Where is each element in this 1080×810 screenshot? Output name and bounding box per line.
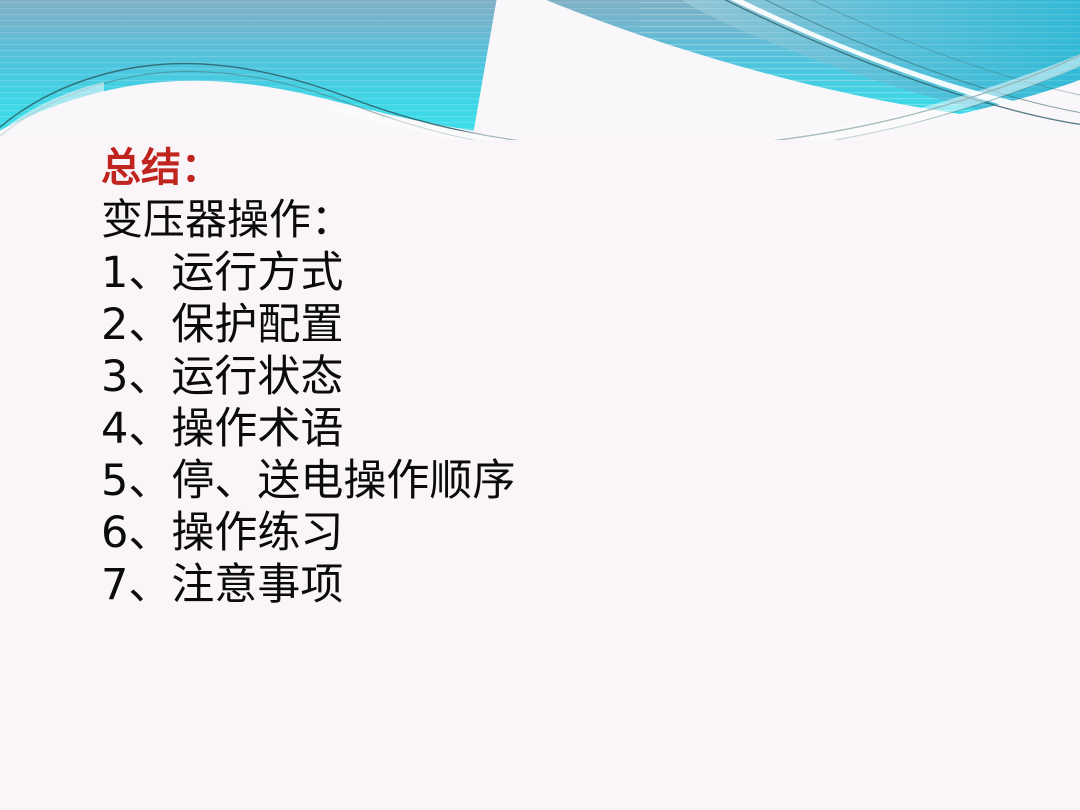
list-item-5: 5、停、送电操作顺序 — [101, 455, 981, 507]
wave-accent-line-secondary — [0, 56, 1080, 140]
transformer-operation-subheading: 变压器操作： — [101, 193, 981, 247]
wave-scanlines-right — [640, 2, 1080, 123]
wave-cyan-band-right — [652, 0, 1080, 130]
list-item-4: 4、操作术语 — [101, 403, 981, 455]
wave-accent-line-upper-right-3 — [760, 0, 1080, 99]
wave-accent-line-upper-right-2 — [722, 0, 1080, 115]
list-item-3: 3、运行状态 — [101, 351, 981, 403]
wave-banner-decoration — [0, 0, 1080, 140]
wave-scanlines — [0, 2, 1080, 135]
list-item-1: 1、运行方式 — [101, 247, 981, 299]
list-item-2: 2、保护配置 — [101, 299, 981, 351]
wave-accent-line-primary — [0, 48, 1080, 140]
list-item-7: 7、注意事项 — [101, 559, 981, 611]
list-item-6: 6、操作练习 — [101, 507, 981, 559]
slide-text-block: 总结： 变压器操作： 1、运行方式 2、保护配置 3、运行状态 4、操作术语 5… — [101, 143, 981, 611]
wave-main-white-body — [0, 76, 1080, 140]
wave-bottom-left-wedge — [0, 82, 104, 140]
slide-canvas: 总结： 变压器操作： 1、运行方式 2、保护配置 3、运行状态 4、操作术语 5… — [0, 0, 1080, 810]
wave-white-sliver-right — [686, 0, 1080, 126]
summary-heading: 总结： — [101, 143, 981, 193]
wave-base-field — [0, 0, 1080, 140]
wave-white-crescent-right — [470, 0, 1080, 140]
wave-valley-highlight — [326, 50, 1080, 140]
wave-accent-line-upper-right-1 — [690, 0, 1080, 126]
wave-layers — [0, 0, 1080, 140]
